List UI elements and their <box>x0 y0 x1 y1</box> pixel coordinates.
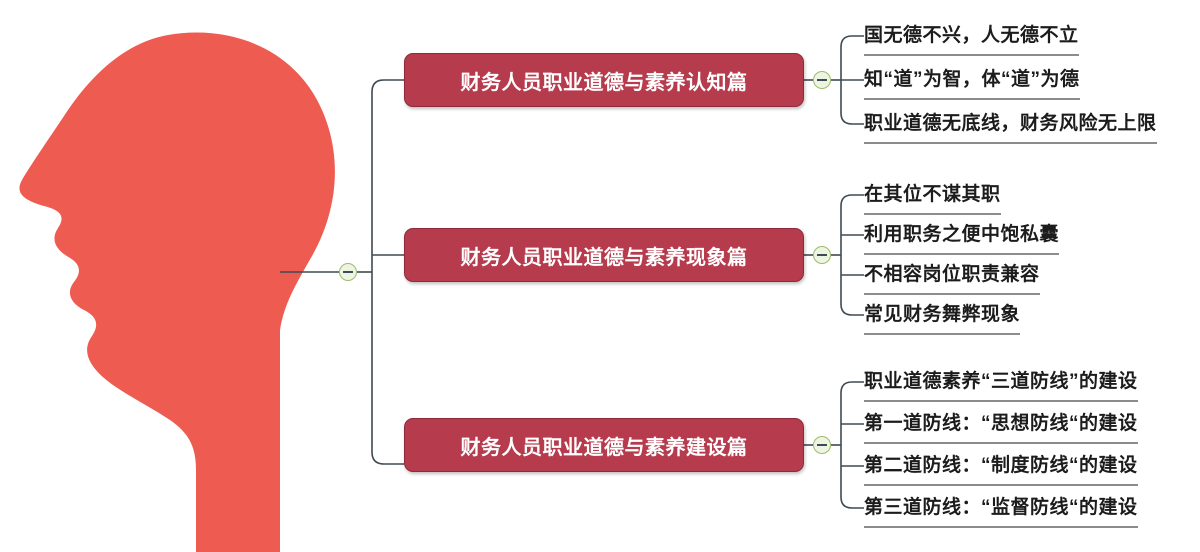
minus-toggle-icon-branch-0[interactable] <box>813 71 831 89</box>
minus-toggle-icon-branch-2[interactable] <box>813 436 831 454</box>
minus-toggle-icon-branch-1[interactable] <box>813 246 831 264</box>
collapse-toggles <box>0 0 1200 552</box>
mindmap-canvas: 财务人员职业 道德与素养 财务人员职业道德与素养认知篇 财务人员职业道德与素养现… <box>0 0 1200 552</box>
minus-toggle-icon-root[interactable] <box>339 263 357 281</box>
